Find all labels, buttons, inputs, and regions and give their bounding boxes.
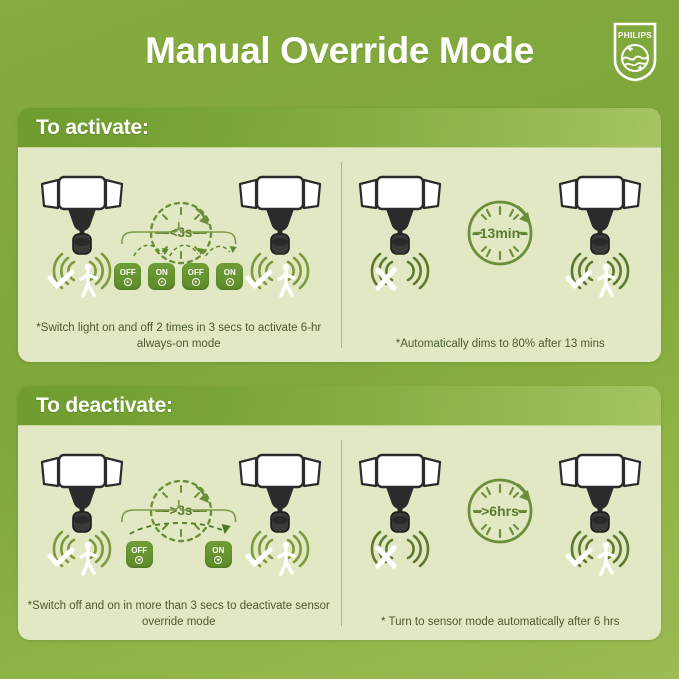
walking-person-icon bbox=[81, 264, 96, 296]
security-light-fixture-icon bbox=[560, 455, 640, 532]
walking-person-icon bbox=[599, 264, 614, 296]
walking-person-icon bbox=[279, 542, 294, 574]
switch-on-2-label: ON bbox=[224, 268, 236, 277]
deactivate-right-caption: * Turn to sensor mode automatically afte… bbox=[348, 614, 654, 630]
activate-right-half: –13min– bbox=[340, 148, 662, 362]
security-light-fixture-icon bbox=[240, 455, 320, 532]
timer-clock-3s-label: –<3s– bbox=[162, 225, 200, 240]
switch-on-1[interactable]: ON bbox=[148, 263, 175, 290]
walking-person-icon bbox=[81, 542, 96, 574]
deactivate-left-half: –>3s– bbox=[18, 426, 340, 640]
switch-off-2[interactable]: OFF bbox=[182, 263, 209, 290]
switch-indicator-icon bbox=[158, 278, 166, 286]
security-light-fixture-icon bbox=[360, 455, 440, 532]
switch-on[interactable]: ON bbox=[205, 541, 232, 568]
security-light-fixture-before bbox=[28, 434, 136, 584]
panel-deactivate-header: To deactivate: bbox=[18, 386, 661, 426]
activate-left-scene: –<3s– bbox=[18, 156, 340, 306]
panel-activate-body: –<3s– bbox=[18, 148, 661, 362]
activate-right-caption: *Automatically dims to 80% after 13 mins bbox=[348, 336, 654, 352]
walking-person-icon bbox=[279, 264, 294, 296]
security-light-fixture-no-motion bbox=[346, 156, 454, 306]
switch-on-label: ON bbox=[212, 546, 224, 555]
security-light-fixture-icon bbox=[560, 177, 640, 254]
panel-deactivate: To deactivate: bbox=[18, 386, 661, 640]
timer-clock-6hrs-label: –>6hrs– bbox=[473, 503, 527, 519]
page-title: Manual Override Mode bbox=[0, 30, 679, 72]
security-light-fixture-after bbox=[226, 434, 334, 584]
security-light-fixture-icon bbox=[360, 177, 440, 254]
deactivate-right-half: –>6hrs– bbox=[340, 426, 662, 640]
activate-left-half: –<3s– bbox=[18, 148, 340, 362]
deactivate-left-caption: *Switch off and on in more than 3 secs t… bbox=[26, 598, 332, 630]
switch-off-1-label: OFF bbox=[120, 268, 136, 277]
activate-right-scene: –13min– bbox=[340, 156, 662, 306]
timer-clock-13min-label: –13min– bbox=[471, 225, 527, 241]
walking-person-icon bbox=[599, 542, 614, 574]
philips-shield-logo: PHILIPS bbox=[613, 22, 657, 82]
page-header: Manual Override Mode PHILIPS bbox=[0, 0, 679, 100]
svg-text:PHILIPS: PHILIPS bbox=[618, 31, 652, 40]
security-light-fixture-icon bbox=[42, 177, 122, 254]
timer-clock-13min: –13min– bbox=[454, 156, 546, 306]
security-light-fixture-no-motion bbox=[346, 434, 454, 584]
switch-off[interactable]: OFF bbox=[126, 541, 153, 568]
switch-off-2-label: OFF bbox=[188, 268, 204, 277]
deactivate-right-scene: –>6hrs– bbox=[340, 434, 662, 584]
timer-clock-6hrs: –>6hrs– bbox=[454, 434, 546, 584]
switch-indicator-icon bbox=[135, 556, 143, 564]
switch-off-1[interactable]: OFF bbox=[114, 263, 141, 290]
security-light-fixture-icon bbox=[42, 455, 122, 532]
security-light-fixture-motion-detected bbox=[546, 434, 654, 584]
switch-indicator-icon bbox=[124, 278, 132, 286]
deactivate-left-scene: –>3s– bbox=[18, 434, 340, 584]
security-light-fixture-icon bbox=[240, 177, 320, 254]
switch-indicator-icon bbox=[226, 278, 234, 286]
panel-activate-header: To activate: bbox=[18, 108, 661, 148]
panel-activate-header-label: To activate: bbox=[36, 116, 149, 140]
activate-left-caption: *Switch light on and off 2 times in 3 se… bbox=[26, 320, 332, 352]
switch-off-label: OFF bbox=[131, 546, 147, 555]
panel-deactivate-header-label: To deactivate: bbox=[36, 394, 173, 418]
security-light-fixture-motion-detected bbox=[546, 156, 654, 306]
switch-indicator-icon bbox=[192, 278, 200, 286]
switch-on-1-label: ON bbox=[156, 268, 168, 277]
panel-deactivate-body: –>3s– bbox=[18, 426, 661, 640]
switch-indicator-icon bbox=[214, 556, 222, 564]
timer-clock-over-3s-label: –>3s– bbox=[162, 503, 200, 518]
panel-activate: To activate: bbox=[18, 108, 661, 362]
switch-on-2[interactable]: ON bbox=[216, 263, 243, 290]
